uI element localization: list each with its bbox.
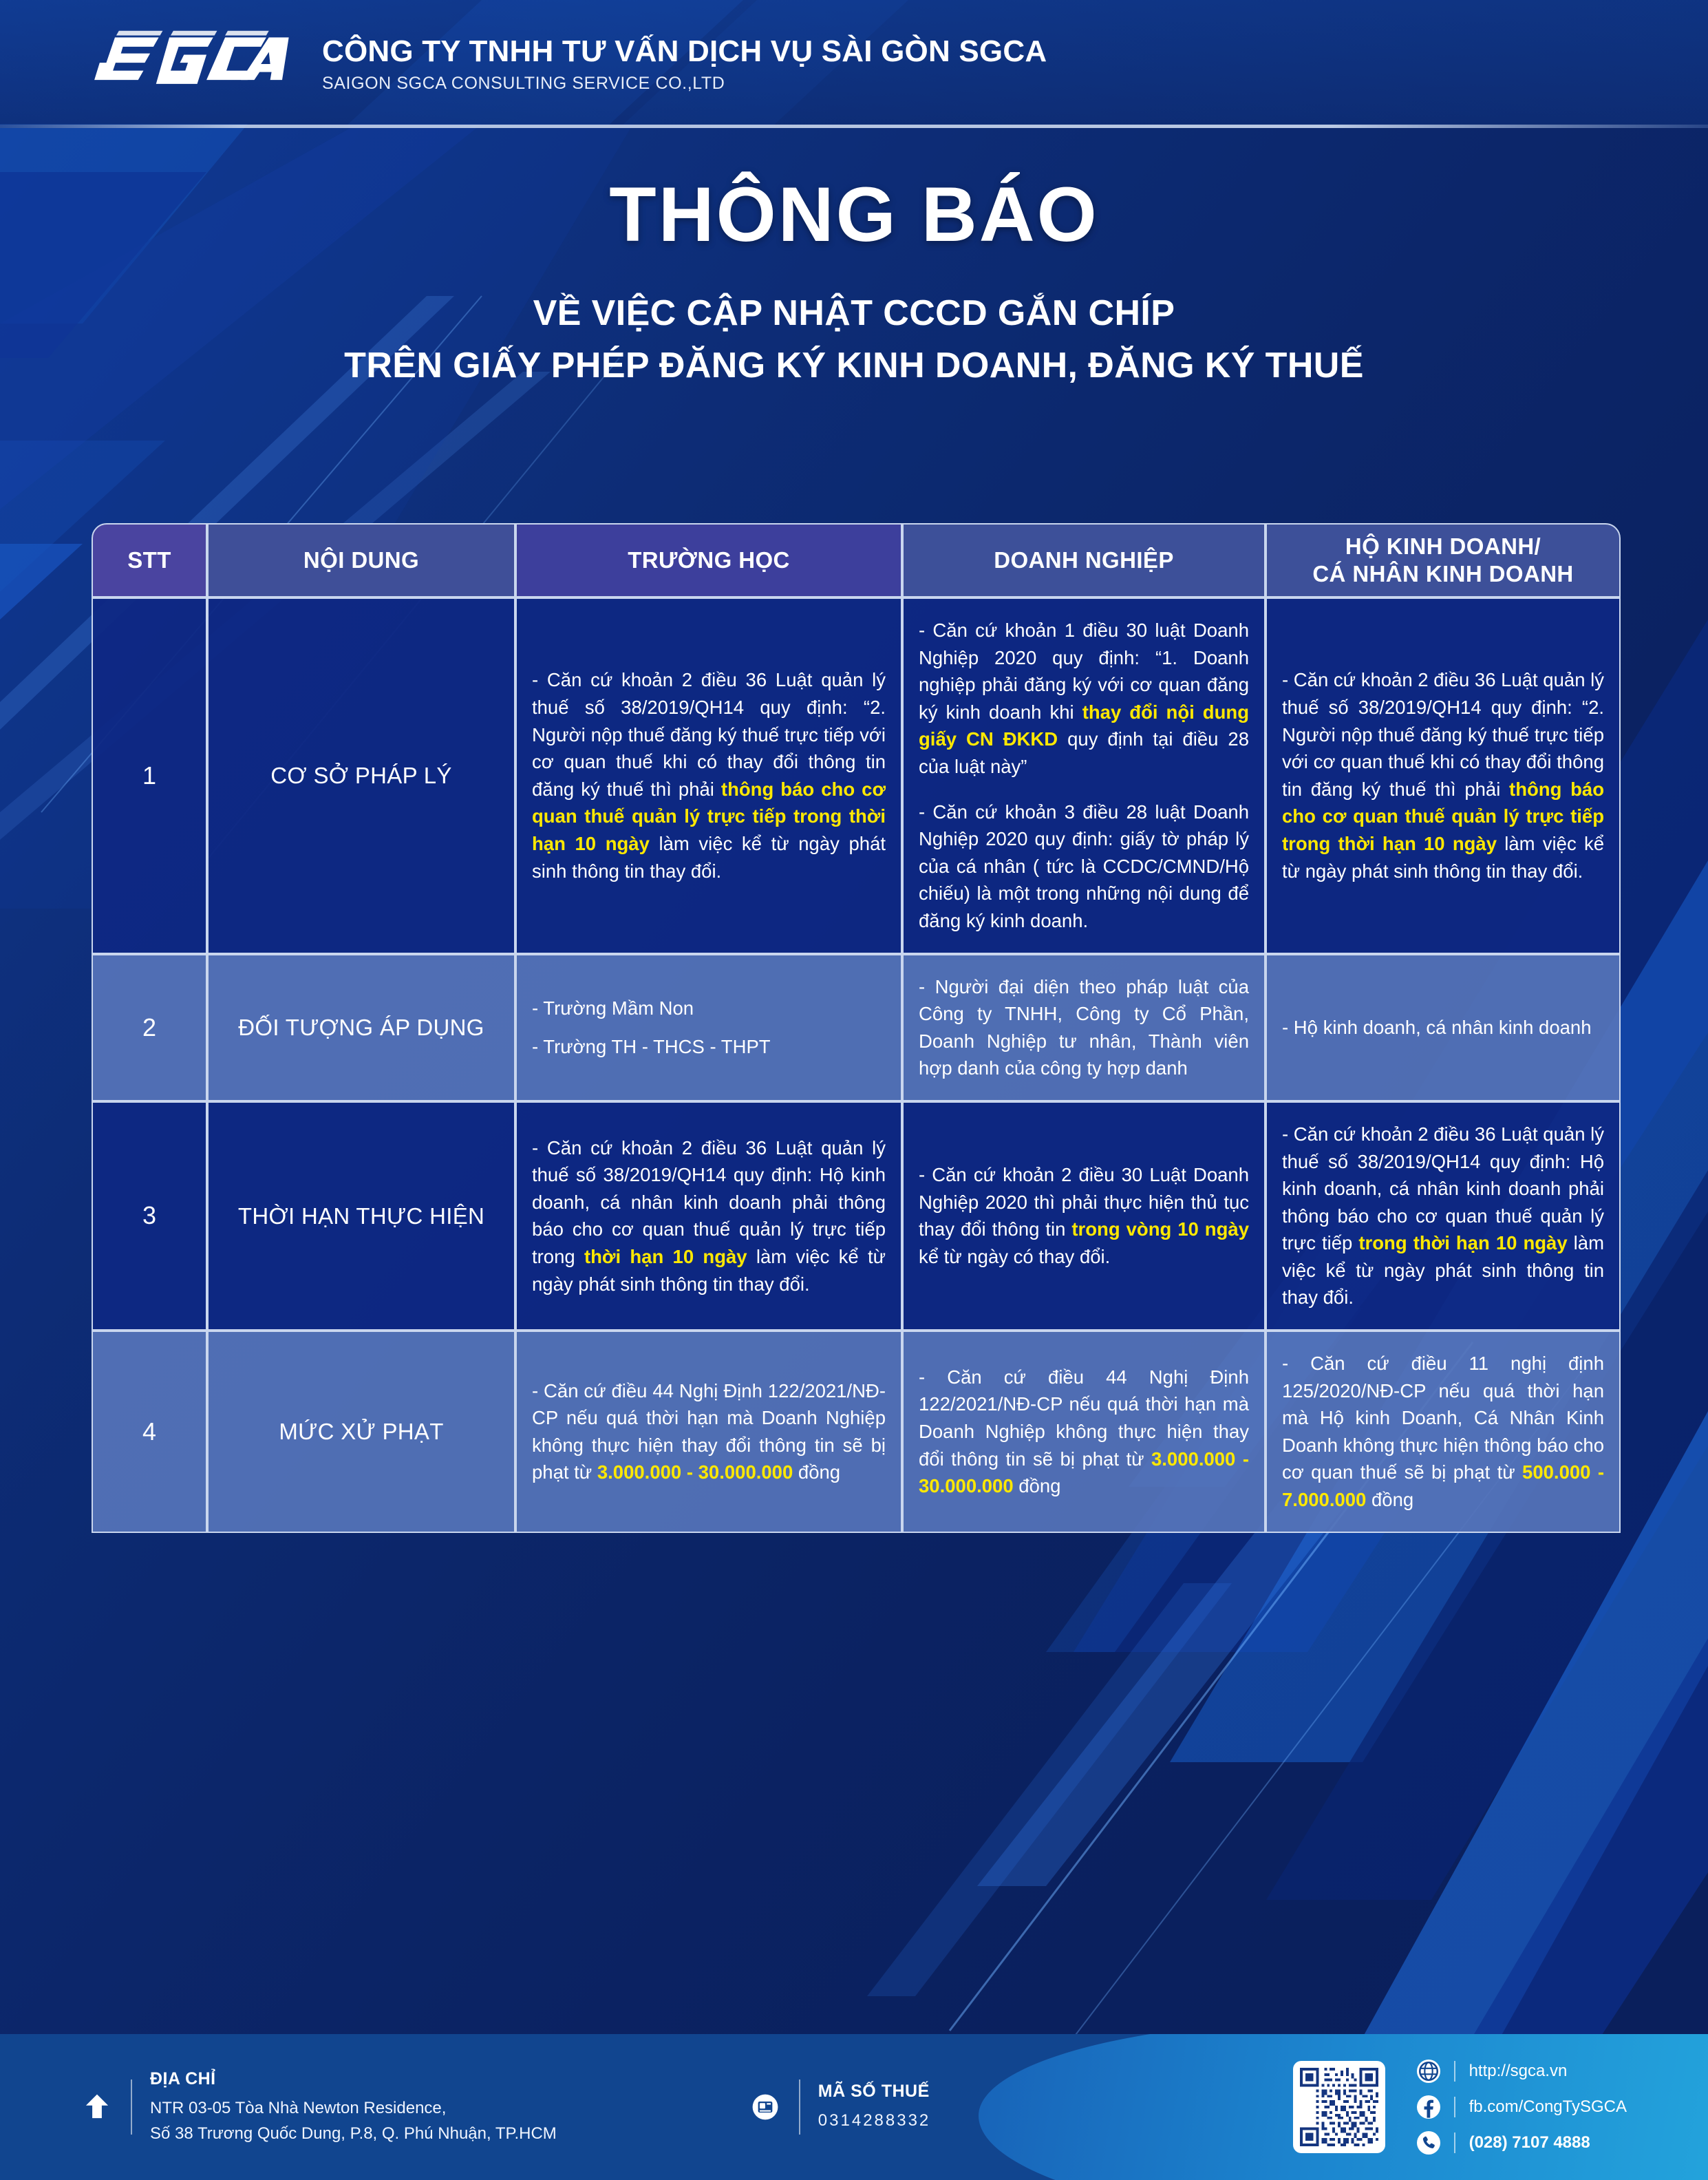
table-row: 3 THỜI HẠN THỰC HIỆN - Căn cứ khoản 2 đi… [92,1101,1621,1331]
footer-address-block: ĐỊA CHỈ NTR 03-05 Tòa Nhà Newton Residen… [81,2069,557,2145]
id-card-icon [749,2091,781,2123]
text-part: đồng [1366,1489,1413,1510]
subtitle-line-2: TRÊN GIẤY PHÉP ĐĂNG KÝ KINH DOANH, ĐĂNG … [0,342,1708,390]
subtitle-line-1: VỀ VIỆC CẬP NHẬT CCCD GẮN CHÍP [0,290,1708,338]
row-label: ĐỐI TƯỢNG ÁP DỤNG [207,954,515,1101]
comparison-table: STT NỘI DUNG TRƯỜNG HỌC DOANH NGHIỆP HỘ … [92,523,1621,1533]
facebook-row[interactable]: fb.com/CongTySGCA [1417,2089,1627,2125]
website-row[interactable]: http://sgca.vn [1417,2053,1627,2089]
row-label: THỜI HẠN THỰC HIỆN [207,1101,515,1331]
footer-links-group: http://sgca.vn fb.com/CongTySGCA [1417,2053,1627,2161]
column-header-stt: STT [92,523,207,597]
facebook-url[interactable]: fb.com/CongTySGCA [1469,2097,1627,2117]
company-name-english: SAIGON SGCA CONSULTING SERVICE CO.,LTD [322,74,1047,94]
highlighted-text: thời hạn 10 ngày [584,1246,747,1267]
paragraph: - Căn cứ khoản 2 điều 36 Luật quản lý th… [1282,1121,1604,1311]
home-icon [81,2091,113,2123]
text-part: đồng [793,1461,840,1483]
phone-number[interactable]: (028) 7107 4888 [1469,2133,1590,2152]
column-header-hkd-line2: CÁ NHÂN KINH DOANH [1312,561,1573,586]
row-number: 4 [92,1331,207,1533]
paragraph: - Hộ kinh doanh, cá nhân kinh doanh [1282,1014,1604,1041]
header-bar: CÔNG TY TNHH TƯ VẤN DỊCH VỤ SÀI GÒN SGCA… [0,0,1708,128]
address-text-group: ĐỊA CHỈ NTR 03-05 Tòa Nhà Newton Residen… [150,2069,557,2145]
column-header-hkd-line1: HỘ KINH DOANH/ [1345,533,1541,559]
highlighted-text: 3.000.000 - 30.000.000 [597,1461,793,1483]
cell-doanh-nghiep: - Căn cứ điều 44 Nghị Định 122/2021/NĐ-C… [902,1331,1266,1533]
list-item: - Trường TH - THCS - THPT [532,1033,886,1061]
address-line-2: Số 38 Trương Quốc Dung, P.8, Q. Phú Nhuậ… [150,2123,557,2145]
footer-bar: ĐỊA CHỈ NTR 03-05 Tòa Nhà Newton Residen… [0,2034,1708,2180]
highlighted-text: trong thời hạn 10 ngày [1358,1232,1567,1253]
qr-code[interactable] [1293,2061,1385,2153]
divider [1454,2097,1455,2117]
cell-truong-hoc: - Căn cứ khoản 2 điều 36 Luật quản lý th… [515,597,902,954]
table-row: 4 MỨC XỬ PHẠT - Căn cứ điều 44 Nghị Định… [92,1331,1621,1533]
row-label: CƠ SỞ PHÁP LÝ [207,597,515,954]
sgca-logo-icon [89,27,289,101]
address-label: ĐỊA CHỈ [150,2069,557,2089]
divider [799,2080,800,2135]
paragraph: - Căn cứ khoản 2 điều 36 Luật quản lý th… [532,666,886,885]
tax-text-group: MÃ SỐ THUẾ 0314288332 [818,2082,930,2132]
cell-ho-kinh-doanh: - Căn cứ khoản 2 điều 36 Luật quản lý th… [1266,597,1621,954]
cell-truong-hoc: - Trường Mầm Non - Trường TH - THCS - TH… [515,954,902,1101]
cell-ho-kinh-doanh: - Căn cứ điều 11 nghị định 125/2020/NĐ-C… [1266,1331,1621,1533]
cell-ho-kinh-doanh: - Căn cứ khoản 2 điều 36 Luật quản lý th… [1266,1101,1621,1331]
text-part: kể từ ngày có thay đổi. [919,1246,1110,1267]
paragraph: - Người đại diện theo pháp luật của Công… [919,973,1249,1082]
table-row: 2 ĐỐI TƯỢNG ÁP DỤNG - Trường Mầm Non - T… [92,954,1621,1101]
cell-doanh-nghiep: - Người đại diện theo pháp luật của Công… [902,954,1266,1101]
page-title: THÔNG BÁO [0,176,1708,254]
qr-code-image [1300,2068,1378,2146]
address-line-1: NTR 03-05 Tòa Nhà Newton Residence, [150,2097,557,2119]
cell-truong-hoc: - Căn cứ điều 44 Nghị Định 122/2021/NĐ-C… [515,1331,902,1533]
column-header-noi-dung: NỘI DUNG [207,523,515,597]
paragraph: - Căn cứ khoản 1 điều 30 luật Doanh Nghi… [919,617,1249,781]
divider [131,2080,132,2135]
facebook-icon [1417,2095,1440,2119]
divider [1454,2061,1455,2082]
phone-icon [1417,2131,1440,2155]
table-header-row: STT NỘI DUNG TRƯỜNG HỌC DOANH NGHIỆP HỘ … [92,523,1621,597]
column-header-ho-kinh-doanh: HỘ KINH DOANH/ CÁ NHÂN KINH DOANH [1266,523,1621,597]
paragraph: - Căn cứ điều 44 Nghị Định 122/2021/NĐ-C… [532,1377,886,1486]
cell-doanh-nghiep: - Căn cứ khoản 2 điều 30 Luật Doanh Nghi… [902,1101,1266,1331]
footer-tax-block: MÃ SỐ THUẾ 0314288332 [749,2080,930,2135]
sgca-logo [89,27,289,101]
row-number: 2 [92,954,207,1101]
row-label: MỨC XỬ PHẠT [207,1331,515,1533]
text-part: đồng [1014,1475,1061,1496]
comparison-table-wrapper: STT NỘI DUNG TRƯỜNG HỌC DOANH NGHIỆP HỘ … [92,523,1621,1533]
company-name-vietnamese: CÔNG TY TNHH TƯ VẤN DỊCH VỤ SÀI GÒN SGCA [322,34,1047,68]
tax-value: 0314288332 [818,2110,930,2132]
row-number: 1 [92,597,207,954]
column-header-truong-hoc: TRƯỜNG HỌC [515,523,902,597]
paragraph: - Căn cứ điều 44 Nghị Định 122/2021/NĐ-C… [919,1364,1249,1500]
paragraph: - Căn cứ khoản 2 điều 36 Luật quản lý th… [1282,666,1604,885]
column-header-doanh-nghiep: DOANH NGHIỆP [902,523,1266,597]
brand-name-block: CÔNG TY TNHH TƯ VẤN DỊCH VỤ SÀI GÒN SGCA… [322,34,1047,94]
cell-ho-kinh-doanh: - Hộ kinh doanh, cá nhân kinh doanh [1266,954,1621,1101]
divider [1454,2133,1455,2153]
tax-label: MÃ SỐ THUẾ [818,2082,930,2102]
paragraph: - Căn cứ điều 11 nghị định 125/2020/NĐ-C… [1282,1350,1604,1514]
cell-doanh-nghiep: - Căn cứ khoản 1 điều 30 luật Doanh Nghi… [902,597,1266,954]
paragraph: - Căn cứ khoản 2 điều 30 Luật Doanh Nghi… [919,1161,1249,1270]
row-number: 3 [92,1101,207,1331]
poster-canvas: CÔNG TY TNHH TƯ VẤN DỊCH VỤ SÀI GÒN SGCA… [0,0,1708,2180]
paragraph: - Căn cứ khoản 3 điều 28 luật Doanh Nghi… [919,798,1249,935]
cell-truong-hoc: - Căn cứ khoản 2 điều 36 Luật quản lý th… [515,1101,902,1331]
table-row: 1 CƠ SỞ PHÁP LÝ - Căn cứ khoản 2 điều 36… [92,597,1621,954]
list-item: - Trường Mầm Non [532,995,886,1022]
highlighted-text: trong vòng 10 ngày [1071,1218,1249,1240]
footer-contact-block: http://sgca.vn fb.com/CongTySGCA [1293,2053,1627,2161]
title-block: THÔNG BÁO VỀ VIỆC CẬP NHẬT CCCD GẮN CHÍP… [0,176,1708,390]
phone-row[interactable]: (028) 7107 4888 [1417,2125,1627,2161]
paragraph: - Căn cứ khoản 2 điều 36 Luật quản lý th… [532,1134,886,1298]
website-url[interactable]: http://sgca.vn [1469,2062,1568,2081]
globe-icon [1417,2060,1440,2083]
